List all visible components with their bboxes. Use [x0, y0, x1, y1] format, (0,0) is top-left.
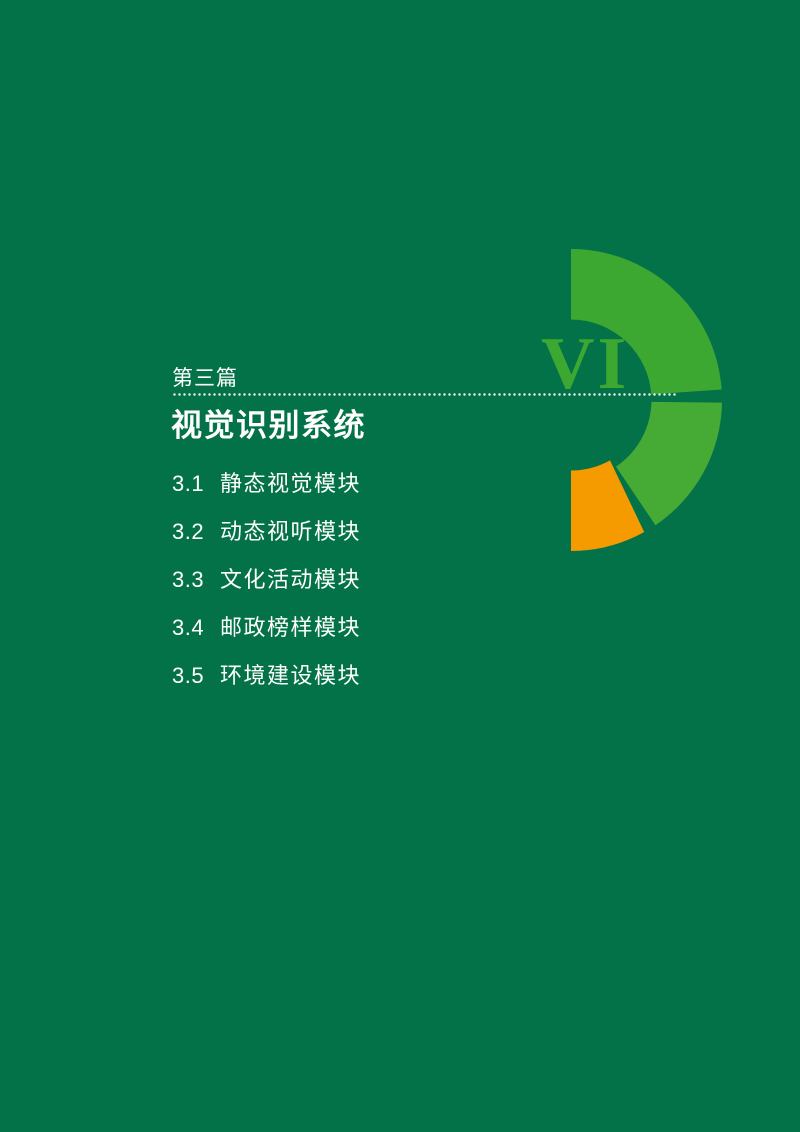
- toc-item-label: 静态视觉模块: [220, 470, 361, 498]
- section-divider-page: VI 第三篇 视觉识别系统 3.1 静态视觉模块 3.2 动态视听模块 3.3 …: [0, 0, 800, 1132]
- toc-item-number: 3.1: [172, 470, 220, 498]
- toc-item-number: 3.3: [172, 566, 220, 594]
- toc-item-label: 动态视听模块: [220, 518, 361, 546]
- page-title: 视觉识别系统: [171, 407, 366, 445]
- toc-item-number: 3.2: [172, 518, 220, 546]
- roman-numeral-vi: VI: [541, 327, 629, 401]
- list-item[interactable]: 3.5 环境建设模块: [172, 662, 502, 710]
- list-item[interactable]: 3.1 静态视觉模块: [172, 470, 502, 518]
- toc-item-label: 邮政榜样模块: [220, 614, 361, 642]
- toc-item-number: 3.4: [172, 614, 220, 642]
- section-label: 第三篇: [172, 366, 238, 392]
- list-item[interactable]: 3.4 邮政榜样模块: [172, 614, 502, 662]
- toc-item-label: 环境建设模块: [220, 662, 361, 690]
- list-item[interactable]: 3.3 文化活动模块: [172, 566, 502, 614]
- toc-item-label: 文化活动模块: [220, 566, 361, 594]
- list-item[interactable]: 3.2 动态视听模块: [172, 518, 502, 566]
- toc-list: 3.1 静态视觉模块 3.2 动态视听模块 3.3 文化活动模块 3.4 邮政榜…: [172, 470, 502, 710]
- toc-item-number: 3.5: [172, 662, 220, 690]
